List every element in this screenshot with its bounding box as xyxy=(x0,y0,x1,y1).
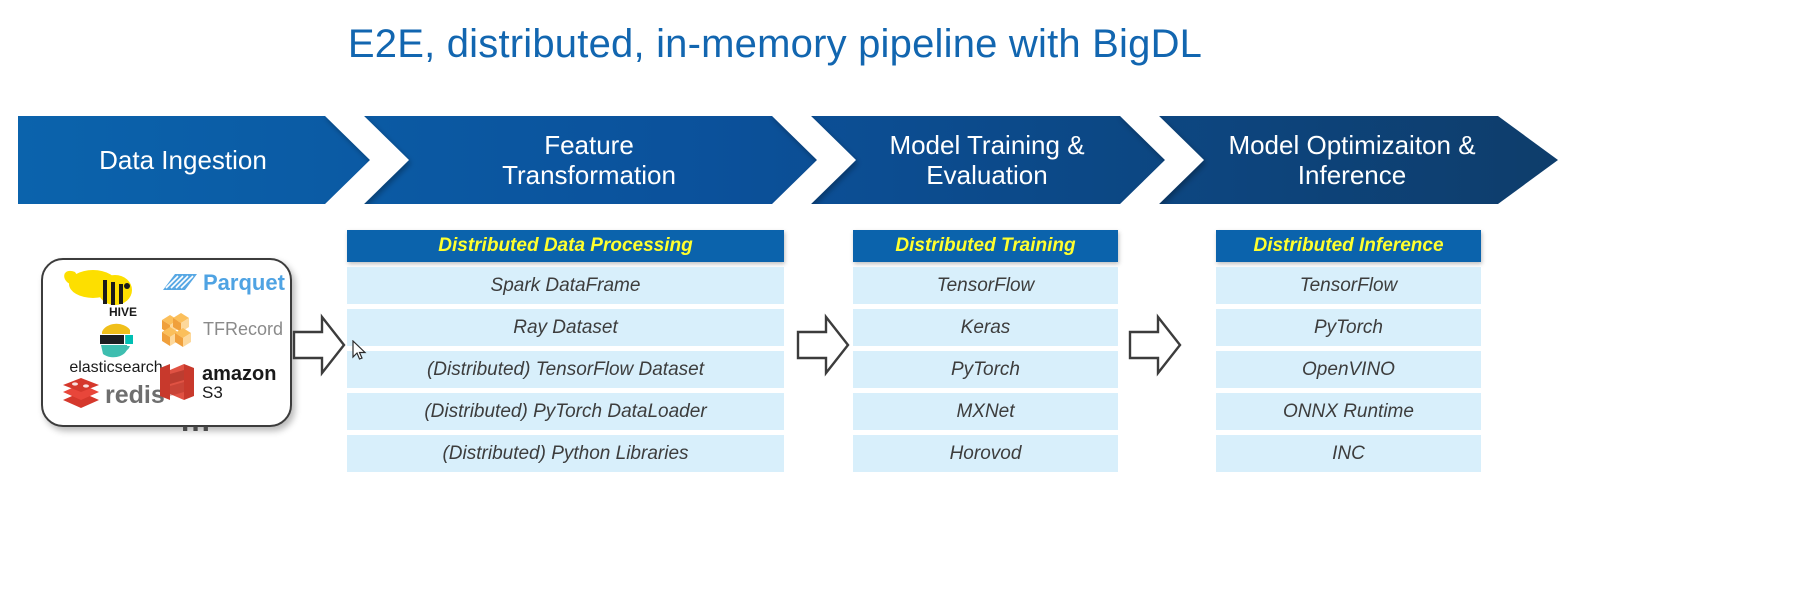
table-row[interactable]: Horovod xyxy=(853,435,1118,472)
elasticsearch-logo: elasticsearch xyxy=(61,322,171,377)
connector-arrow-3 xyxy=(1128,310,1182,385)
parquet-logo: Parquet xyxy=(161,268,285,298)
tfrecord-label: TFRecord xyxy=(203,319,283,340)
table-row[interactable]: ONNX Runtime xyxy=(1216,393,1481,430)
svg-text:HIVE: HIVE xyxy=(109,305,137,318)
amazon-s3-logo: amazon S3 xyxy=(156,360,276,404)
table-row[interactable]: PyTorch xyxy=(853,351,1118,388)
redis-logo: redis xyxy=(61,378,165,412)
amazon-s3-sublabel: S3 xyxy=(202,384,276,401)
table-header: Distributed Inference xyxy=(1216,230,1481,262)
table-row[interactable]: Ray Dataset xyxy=(347,309,784,346)
table-row[interactable]: (Distributed) PyTorch DataLoader xyxy=(347,393,784,430)
table-row[interactable]: MXNet xyxy=(853,393,1118,430)
table-row[interactable]: TensorFlow xyxy=(853,267,1118,304)
table-row[interactable]: Spark DataFrame xyxy=(347,267,784,304)
data-sources-card: HIVE Parquet elasticsearch xyxy=(41,258,292,427)
tfrecord-logo: TFRecord xyxy=(158,308,283,350)
elasticsearch-label: elasticsearch xyxy=(69,359,162,377)
table-distributed-training: Distributed Training TensorFlow Keras Py… xyxy=(853,230,1118,472)
sources-ellipsis: ... xyxy=(181,405,212,439)
pipeline-banner: Data Ingestion Feature Transformation Mo… xyxy=(18,116,1558,204)
mouse-cursor xyxy=(352,340,368,367)
table-header: Distributed Training xyxy=(853,230,1118,262)
table-distributed-data-processing: Distributed Data Processing Spark DataFr… xyxy=(347,230,784,472)
amazon-label: amazon xyxy=(202,364,276,384)
parquet-label: Parquet xyxy=(203,270,285,296)
table-row[interactable]: (Distributed) TensorFlow Dataset xyxy=(347,351,784,388)
table-row[interactable]: PyTorch xyxy=(1216,309,1481,346)
connector-arrow-1 xyxy=(292,310,346,385)
table-header: Distributed Data Processing xyxy=(347,230,784,262)
hive-logo: HIVE xyxy=(57,266,149,318)
connector-arrow-2 xyxy=(796,310,850,385)
page-title: E2E, distributed, in-memory pipeline wit… xyxy=(0,22,1550,67)
table-row[interactable]: TensorFlow xyxy=(1216,267,1481,304)
table-distributed-inference: Distributed Inference TensorFlow PyTorch… xyxy=(1216,230,1481,472)
table-row[interactable]: Keras xyxy=(853,309,1118,346)
table-row[interactable]: OpenVINO xyxy=(1216,351,1481,388)
table-row[interactable]: (Distributed) Python Libraries xyxy=(347,435,784,472)
table-row[interactable]: INC xyxy=(1216,435,1481,472)
